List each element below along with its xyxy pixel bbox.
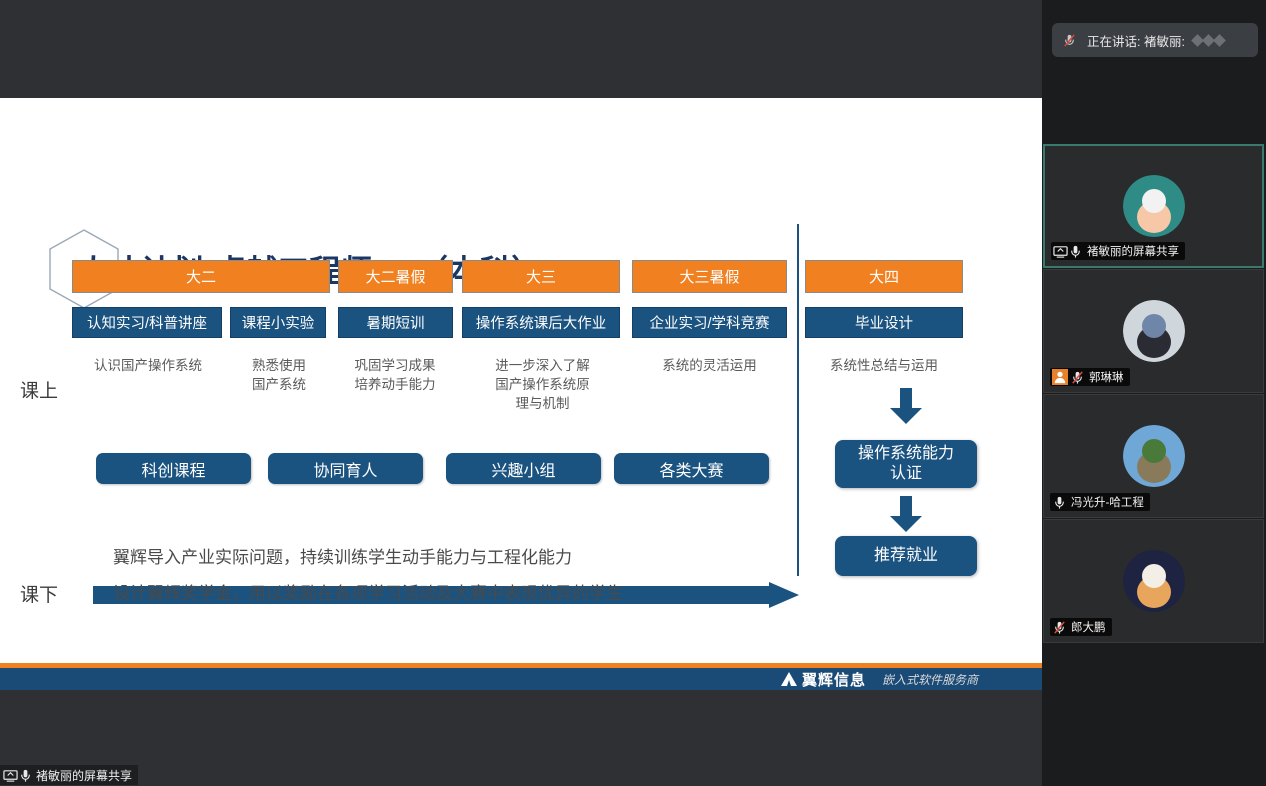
participant-nametag: 褚敏丽的屏幕共享 <box>1051 242 1185 260</box>
vertical-divider <box>797 224 799 576</box>
arrow-mark-icon <box>780 671 798 687</box>
term-bar: 大二暑假 <box>338 260 453 293</box>
participants-strip: 正在讲话: 褚敏丽: 褚敏丽的屏幕共享郭琳琳冯光升-哈工程郎大鹏 <box>1042 0 1266 786</box>
down-arrow-icon-1 <box>890 388 922 424</box>
course-box: 认知实习/科普讲座 <box>72 307 222 338</box>
avatar-cat <box>1123 550 1185 612</box>
flow-box-employment: 推荐就业 <box>835 536 977 576</box>
mic-muted-icon <box>1070 370 1085 385</box>
presentation-slide: 人才计划-卓越工程师2.0（本科） 课上 课下 大二大二暑假大三大三暑假大四 认… <box>0 98 1042 690</box>
description-text: 进一步深入了解国产操作系统原理与机制 <box>470 356 615 413</box>
participant-tile[interactable]: 郭琳琳 <box>1043 269 1264 393</box>
participant-nametag: 郎大鹏 <box>1050 618 1112 636</box>
participant-name: 冯光升-哈工程 <box>1071 494 1144 510</box>
description-text: 巩固学习成果培养动手能力 <box>330 356 460 394</box>
description-text: 认识国产操作系统 <box>72 356 224 375</box>
avatar-girl-hat <box>1123 175 1185 237</box>
term-bar: 大三暑假 <box>632 260 787 293</box>
extracurricular-pill: 协同育人 <box>268 453 423 484</box>
course-box: 企业实习/学科竞赛 <box>632 307 787 338</box>
taskbar-share-badge[interactable]: 褚敏丽的屏幕共享 <box>0 765 138 785</box>
mic-muted-icon <box>1062 33 1077 48</box>
person-badge-icon <box>1052 369 1068 385</box>
avatar-landscape-trees <box>1123 425 1185 487</box>
slide-footer: 翼辉信息 嵌入式软件服务商 <box>0 668 1042 690</box>
description-text: 熟悉使用国产系统 <box>230 356 328 394</box>
screen-share-icon <box>3 768 18 783</box>
note-line-2: 设计翼辉奖学金，用以奖励在各项学习活动及大赛中表现优异的学生 <box>113 579 623 604</box>
speaking-indicator: 正在讲话: 褚敏丽: <box>1052 23 1258 57</box>
mic-on-icon <box>1052 495 1067 510</box>
avatar-anime-girl <box>1123 300 1185 362</box>
term-bar: 大四 <box>805 260 963 293</box>
shared-screen-region: 人才计划-卓越工程师2.0（本科） 课上 课下 大二大二暑假大三大三暑假大四 认… <box>0 0 1042 786</box>
participant-nametag: 郭琳琳 <box>1050 368 1130 386</box>
course-box: 操作系统课后大作业 <box>462 307 620 338</box>
audio-wave-icon <box>1193 36 1224 45</box>
term-bar: 大二 <box>72 260 330 293</box>
extracurricular-pill: 科创课程 <box>96 453 251 484</box>
course-box: 课程小实验 <box>230 307 326 338</box>
participant-tile[interactable]: 褚敏丽的屏幕共享 <box>1043 144 1264 268</box>
footer-tagline: 嵌入式软件服务商 <box>882 671 978 688</box>
mic-on-icon <box>18 768 33 783</box>
description-text: 系统性总结与运用 <box>805 356 963 375</box>
description-text: 系统的灵活运用 <box>632 356 787 375</box>
speaking-text: 正在讲话: 褚敏丽: <box>1087 31 1185 50</box>
down-arrow-icon-2 <box>890 496 922 532</box>
row-label-below: 课下 <box>20 580 58 607</box>
course-box: 毕业设计 <box>805 307 963 338</box>
term-bar: 大三 <box>462 260 620 293</box>
extracurricular-pill: 各类大赛 <box>614 453 769 484</box>
participant-tile[interactable]: 郎大鹏 <box>1043 519 1264 643</box>
participant-name: 褚敏丽的屏幕共享 <box>1087 243 1179 259</box>
screen-share-icon <box>1053 244 1068 259</box>
screen: 人才计划-卓越工程师2.0（本科） 课上 课下 大二大二暑假大三大三暑假大四 认… <box>0 0 1266 786</box>
row-label-above: 课上 <box>20 376 58 403</box>
course-box: 暑期短训 <box>338 307 453 338</box>
participant-nametag: 冯光升-哈工程 <box>1050 493 1150 511</box>
extracurricular-pill: 兴趣小组 <box>446 453 601 484</box>
flow-box-certification: 操作系统能力认证 <box>835 440 977 488</box>
participant-name: 郭琳琳 <box>1089 369 1124 385</box>
mic-on-icon <box>1068 244 1083 259</box>
participant-tile[interactable]: 冯光升-哈工程 <box>1043 394 1264 518</box>
mic-muted-icon <box>1052 620 1067 635</box>
participant-name: 郎大鹏 <box>1071 619 1106 635</box>
footer-logo-text: 翼辉信息 <box>802 669 866 690</box>
taskbar-share-label: 褚敏丽的屏幕共享 <box>36 767 132 784</box>
note-line-1: 翼辉导入产业实际问题，持续训练学生动手能力与工程化能力 <box>113 543 572 568</box>
